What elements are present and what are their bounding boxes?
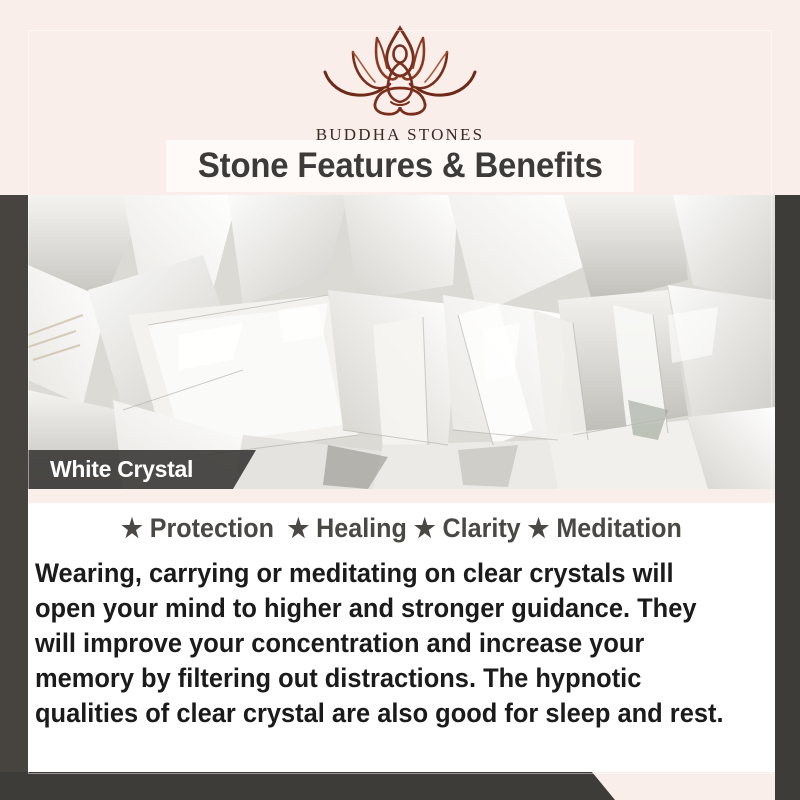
bottom-accent-band xyxy=(0,772,800,800)
star-icon: ★ xyxy=(414,513,436,543)
benefit-label: Healing xyxy=(316,513,407,543)
benefit-label: Clarity xyxy=(442,513,520,543)
benefit-item-meditation: ★ Meditation xyxy=(528,513,682,543)
star-icon: ★ xyxy=(528,513,550,543)
benefit-item-clarity: ★ Clarity xyxy=(414,513,521,543)
divider-strip xyxy=(28,489,775,503)
poster-header: BUDDHA STONES Stone Features & Benefits xyxy=(0,0,800,195)
page-title: Stone Features & Benefits xyxy=(198,146,603,186)
benefit-item-protection: ★ Protection xyxy=(121,513,274,543)
white-crystal-photo xyxy=(28,195,775,489)
lotus-meditation-icon xyxy=(0,22,800,123)
stone-name-label: White Crystal xyxy=(50,456,193,483)
benefits-list: ★ Protection ★ Healing ★ Clarity ★ Medit… xyxy=(54,513,749,544)
stone-benefits-poster: BUDDHA STONES Stone Features & Benefits xyxy=(0,0,800,800)
description-text: Wearing, carrying or meditating on clear… xyxy=(35,556,739,731)
stone-name-badge: White Crystal xyxy=(28,450,256,489)
star-icon: ★ xyxy=(287,513,309,543)
benefit-item-healing: ★ Healing xyxy=(287,513,406,543)
left-accent-border xyxy=(0,190,28,800)
benefit-label: Meditation xyxy=(556,513,682,543)
page-title-band: Stone Features & Benefits xyxy=(166,140,634,192)
content-panel: ★ Protection ★ Healing ★ Clarity ★ Medit… xyxy=(28,503,775,772)
benefit-label: Protection xyxy=(150,513,274,543)
brand-logo: BUDDHA STONES xyxy=(0,22,800,145)
star-icon: ★ xyxy=(121,513,143,543)
